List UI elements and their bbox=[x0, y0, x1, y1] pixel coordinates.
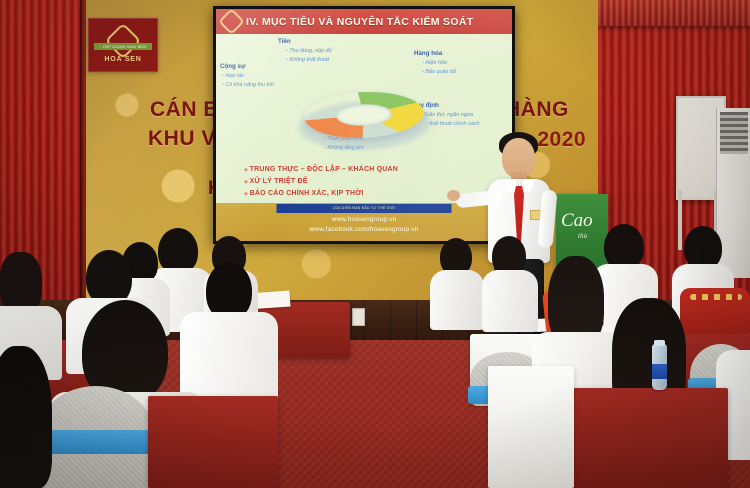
standee-subline: thủ bbox=[578, 232, 587, 240]
water-bottle-cap bbox=[654, 340, 665, 346]
slide-label-congsu: Cộng sự bbox=[220, 63, 245, 70]
donut-diagram bbox=[299, 88, 430, 142]
principle-1: TRUNG THỰC – ĐỘC LẬP – KHÁCH QUAN bbox=[244, 166, 398, 173]
shirt bbox=[180, 312, 278, 400]
curtain-valance bbox=[596, 0, 750, 26]
slide-principles: TRUNG THỰC – ĐỘC LẬP – KHÁCH QUAN XỬ LÝ … bbox=[244, 166, 398, 202]
lotus-mark-icon bbox=[105, 22, 142, 59]
slide-title-bar: IV. MỤC TIÊU VÀ NGUYÊN TẮC KIỂM SOÁT bbox=[216, 9, 512, 34]
table-red-front-right bbox=[560, 388, 728, 488]
principle-3: BÁO CÁO CHÍNH XÁC, KỊP THỜI bbox=[244, 190, 398, 197]
table-red-front-left bbox=[148, 396, 278, 488]
logo-sub-label: TAP DOAN HOA SEN bbox=[94, 43, 153, 50]
wall-outlet bbox=[352, 308, 365, 326]
shirt bbox=[482, 270, 538, 332]
head bbox=[0, 252, 42, 314]
slide-item-congsu-1: Hợp tác bbox=[222, 73, 244, 79]
slide-item-tien-2: Không thất thoát bbox=[286, 57, 329, 63]
footer-band: CỦA DIỄN ĐÀN ĐẦU TƯ THẾ GIỚI bbox=[277, 204, 452, 213]
slide-title: IV. MỤC TIÊU VÀ NGUYÊN TẮC KIỂM SOÁT bbox=[246, 16, 473, 28]
whiteboard-leg-left bbox=[678, 190, 682, 250]
red-chair-trim bbox=[690, 294, 742, 300]
seminar-photo: HOA SEN TAP DOAN HOA SEN CÁN BỘ KHU VỰC … bbox=[0, 0, 750, 488]
slide-label-hanghoa: Hàng hóa bbox=[414, 50, 442, 57]
head-long-hair bbox=[0, 346, 52, 488]
hoa-sen-logo: HOA SEN TAP DOAN HOA SEN bbox=[88, 18, 158, 72]
table-white-front-center bbox=[488, 366, 574, 488]
water-bottle-label bbox=[652, 364, 667, 379]
slide-logo-icon bbox=[218, 9, 245, 35]
slide-item-hanghoa-1: Hiện hữu bbox=[422, 60, 447, 66]
presenter-hand bbox=[447, 190, 460, 201]
shirt bbox=[430, 270, 484, 330]
slide-item-congsu-2: Có khả năng thu hồi bbox=[222, 82, 274, 88]
air-conditioner-vent bbox=[720, 112, 748, 154]
chair-sash-front-1 bbox=[34, 430, 162, 454]
slide-label-tien: Tiền bbox=[278, 38, 291, 45]
slide-item-tien-1: Thu đúng, nộp đủ bbox=[286, 48, 332, 54]
principle-2: XỬ LÝ TRIỆT ĐỂ bbox=[244, 178, 398, 185]
slide-item-hanghoa-2: Bảo quản tốt bbox=[422, 69, 456, 75]
